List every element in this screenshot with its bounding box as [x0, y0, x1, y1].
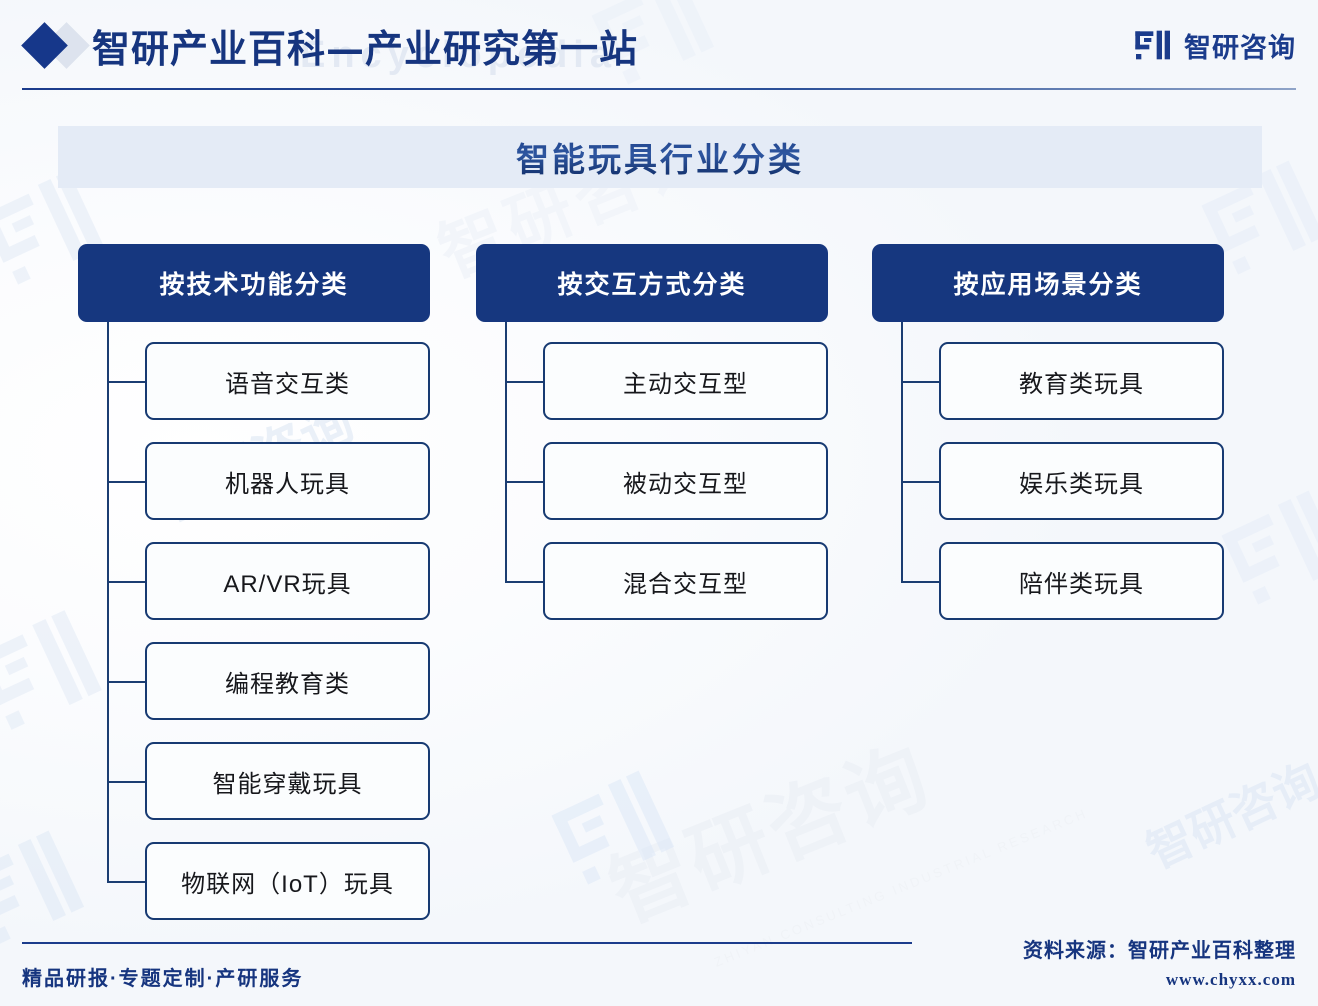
- connector-branch: [107, 681, 145, 683]
- category-box[interactable]: 编程教育类: [145, 642, 430, 720]
- column-header-3[interactable]: 按应用场景分类: [872, 244, 1224, 322]
- connector-branch: [107, 581, 145, 583]
- category-box[interactable]: 娱乐类玩具: [939, 442, 1224, 520]
- connector-trunk-3: [901, 322, 903, 581]
- category-box[interactable]: AR/VR玩具: [145, 542, 430, 620]
- page-footer: 精品研报·专题定制·产研服务 资料来源：智研产业百科整理 www.chyxx.c…: [0, 934, 1318, 1006]
- poster-canvas: 智研咨询 智研咨询 ZHIYAN CONSULTING INDUSTRIAL R…: [0, 0, 1318, 1006]
- category-label: 编程教育类: [225, 664, 350, 699]
- connector-branch: [901, 581, 939, 583]
- column-header-2[interactable]: 按交互方式分类: [476, 244, 828, 322]
- category-box[interactable]: 智能穿戴玩具: [145, 742, 430, 820]
- category-box[interactable]: 语音交互类: [145, 342, 430, 420]
- connector-branch: [505, 481, 543, 483]
- category-box[interactable]: 教育类玩具: [939, 342, 1224, 420]
- category-box[interactable]: 机器人玩具: [145, 442, 430, 520]
- classification-diagram: 按技术功能分类语音交互类机器人玩具AR/VR玩具编程教育类智能穿戴玩具物联网（I…: [0, 0, 1318, 1006]
- category-label: 物联网（IoT）玩具: [181, 864, 394, 899]
- column-header-label: 按应用场景分类: [953, 265, 1142, 301]
- column-header-label: 按交互方式分类: [557, 265, 746, 301]
- connector-branch: [505, 581, 543, 583]
- category-box[interactable]: 陪伴类玩具: [939, 542, 1224, 620]
- category-label: 教育类玩具: [1019, 364, 1144, 399]
- category-label: 娱乐类玩具: [1019, 464, 1144, 499]
- category-label: 机器人玩具: [225, 464, 350, 499]
- connector-branch: [107, 481, 145, 483]
- column-header-1[interactable]: 按技术功能分类: [78, 244, 430, 322]
- category-box[interactable]: 主动交互型: [543, 342, 828, 420]
- category-label: 智能穿戴玩具: [213, 764, 363, 799]
- connector-branch: [901, 381, 939, 383]
- connector-trunk-2: [505, 322, 507, 581]
- category-label: 主动交互型: [623, 364, 748, 399]
- category-box[interactable]: 物联网（IoT）玩具: [145, 842, 430, 920]
- category-label: AR/VR玩具: [223, 564, 351, 599]
- category-box[interactable]: 被动交互型: [543, 442, 828, 520]
- footer-source-text: 资料来源：智研产业百科整理: [1023, 934, 1296, 963]
- footer-url[interactable]: www.chyxx.com: [1166, 970, 1296, 990]
- connector-trunk-1: [107, 322, 109, 881]
- category-label: 被动交互型: [623, 464, 748, 499]
- category-label: 混合交互型: [623, 564, 748, 599]
- connector-branch: [107, 381, 145, 383]
- connector-branch: [107, 781, 145, 783]
- category-label: 陪伴类玩具: [1019, 564, 1144, 599]
- connector-branch: [901, 481, 939, 483]
- footer-divider: [22, 942, 912, 944]
- category-label: 语音交互类: [225, 364, 350, 399]
- connector-branch: [505, 381, 543, 383]
- connector-branch: [107, 881, 145, 883]
- column-header-label: 按技术功能分类: [159, 265, 348, 301]
- footer-services-text: 精品研报·专题定制·产研服务: [22, 962, 303, 991]
- category-box[interactable]: 混合交互型: [543, 542, 828, 620]
